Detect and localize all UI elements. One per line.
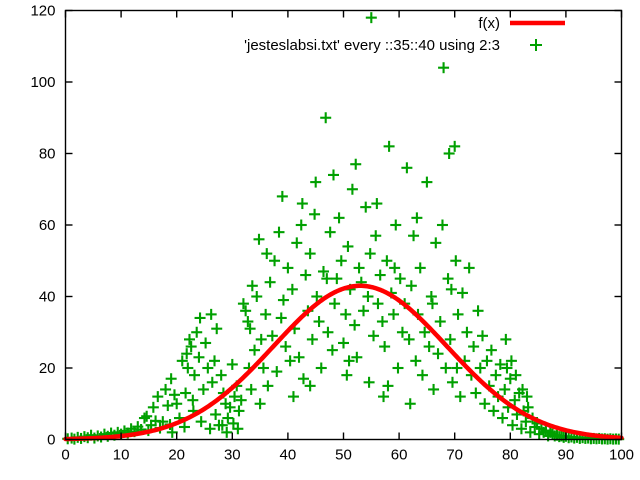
legend-label-datafile: 'jesteslabsi.txt' every ::35::40 using 2… xyxy=(244,37,500,54)
y-tick-label: 120 xyxy=(30,3,55,20)
x-tick-label: 50 xyxy=(335,447,352,464)
y-tick-label: 100 xyxy=(30,74,55,91)
gnuplot-figure: 0102030405060708090100020406080100120 f(… xyxy=(0,0,640,480)
x-tick-label: 40 xyxy=(280,447,297,464)
x-tick-label: 10 xyxy=(113,447,130,464)
figure-background xyxy=(0,0,640,480)
y-tick-label: 40 xyxy=(39,289,56,306)
plot-canvas: 0102030405060708090100020406080100120 f(… xyxy=(0,0,640,480)
x-tick-label: 20 xyxy=(168,447,185,464)
y-tick-label: 80 xyxy=(39,146,56,163)
x-tick-label: 80 xyxy=(502,447,519,464)
x-tick-label: 0 xyxy=(61,447,69,464)
y-tick-label: 0 xyxy=(47,432,55,449)
x-tick-label: 70 xyxy=(446,447,463,464)
y-tick-label: 20 xyxy=(39,360,56,377)
x-tick-label: 60 xyxy=(391,447,408,464)
x-tick-label: 100 xyxy=(609,447,634,464)
x-tick-label: 30 xyxy=(224,447,241,464)
y-tick-label: 60 xyxy=(39,217,56,234)
x-tick-label: 90 xyxy=(558,447,575,464)
legend-label-fx: f(x) xyxy=(478,15,500,32)
